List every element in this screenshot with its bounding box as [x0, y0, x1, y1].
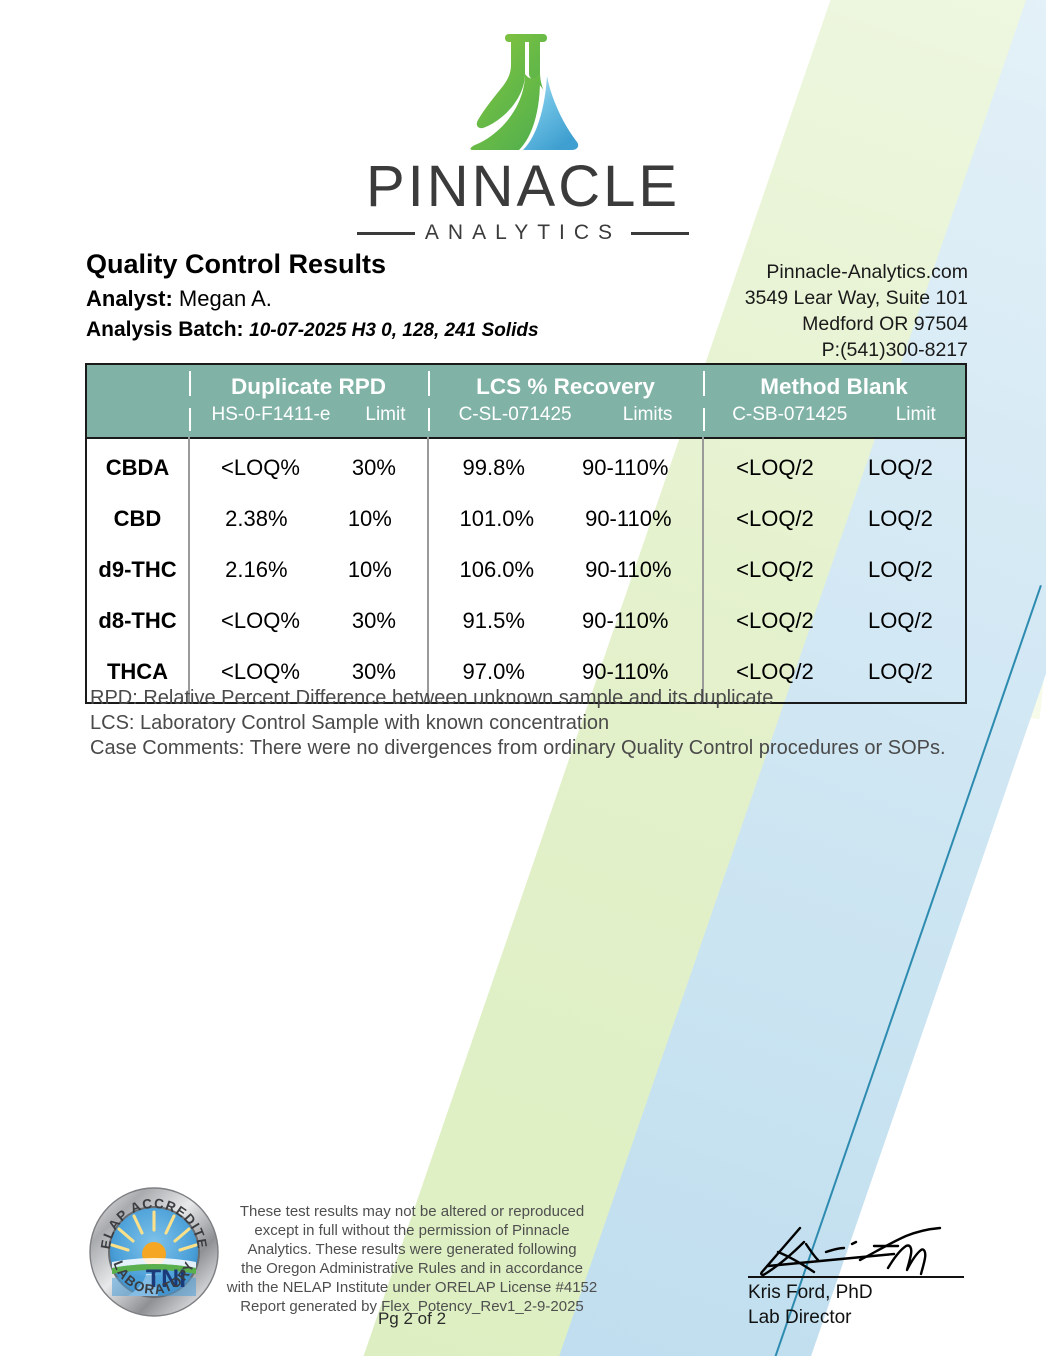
analyst-value: Megan A. — [179, 286, 272, 311]
cell-rpd-value: <LOQ% — [221, 659, 300, 685]
cell-lcs-value: 106.0% — [459, 557, 534, 583]
analysis-batch-value: 10-07-2025 H3 0, 128, 241 Solids — [249, 320, 538, 341]
lab-phone: P:(541)300-8217 — [745, 338, 968, 364]
cell-lcs-limit: 90-110% — [582, 659, 668, 685]
table-notes: RPD: Relative Percent Difference between… — [90, 686, 950, 762]
cell-mb-limit: LOQ/2 — [868, 608, 933, 634]
cell-lcs-value: 97.0% — [463, 659, 525, 685]
report-page: PINNACLE ANALYTICS Quality Control Resul… — [0, 0, 1046, 1356]
disclaimer-line-4: the Oregon Administrative Rules and in a… — [216, 1260, 608, 1279]
cell-mb-value: <LOQ/2 — [736, 608, 814, 634]
subheader-duplicate-rpd: HS-0-F1411-e Limit — [189, 402, 428, 438]
cell-analyte: CBD — [87, 493, 189, 544]
cell-rpd-limit: 30% — [352, 659, 396, 685]
signature-icon — [748, 1222, 970, 1280]
subheader-mb-limit: Limit — [896, 404, 936, 426]
table-row: CBDA <LOQ% 30% 99.8% 90-110% — [87, 438, 965, 493]
table-subheader-row: HS-0-F1411-e Limit C-SL-071425 Limits C-… — [87, 402, 965, 438]
flask-icon — [459, 24, 587, 156]
company-logo: PINNACLE ANALYTICS — [0, 24, 1046, 245]
cell-analyte: d9-THC — [87, 544, 189, 595]
cell-mb-limit: LOQ/2 — [868, 659, 933, 685]
page-title: Quality Control Results — [86, 249, 539, 280]
report-header-left: Quality Control Results Analyst: Megan A… — [86, 249, 539, 342]
group-header-lcs-recovery: LCS % Recovery — [428, 365, 703, 402]
logo-rule-right — [631, 232, 689, 235]
cell-rpd-value: <LOQ% — [221, 608, 300, 634]
cell-lcs-value: 91.5% — [463, 608, 525, 634]
cell-analyte: d8-THC — [87, 595, 189, 646]
group-header-method-blank: Method Blank — [703, 365, 965, 402]
cell-lcs-limit: 90-110% — [585, 557, 671, 583]
cell-analyte: CBDA — [87, 438, 189, 493]
cell-lcs-value: 101.0% — [459, 506, 534, 532]
cell-method-blank: <LOQ/2 LOQ/2 — [703, 544, 965, 595]
disclaimer-line-3: Analytics. These results were generated … — [216, 1241, 608, 1260]
quality-control-table: Duplicate RPD LCS % Recovery Method Blan… — [85, 363, 967, 704]
logo-subtitle-row: ANALYTICS — [0, 221, 1046, 245]
group-header-analyte — [87, 365, 189, 402]
table-row: d9-THC 2.16% 10% 106.0% 90-110% — [87, 544, 965, 595]
cell-mb-value: <LOQ/2 — [736, 455, 814, 481]
cell-mb-value: <LOQ/2 — [736, 659, 814, 685]
cell-rpd-value: 2.16% — [225, 557, 287, 583]
disclaimer-line-1: These test results may not be altered or… — [216, 1203, 608, 1222]
lab-website: Pinnacle-Analytics.com — [745, 260, 968, 286]
analyst-row: Analyst: Megan A. — [86, 286, 539, 311]
subheader-analyte — [87, 402, 189, 438]
cell-lcs-limit: 90-110% — [585, 506, 671, 532]
cell-rpd-limit: 10% — [348, 557, 392, 583]
cell-duplicate-rpd: <LOQ% 30% — [189, 595, 428, 646]
cell-rpd-limit: 30% — [352, 455, 396, 481]
analysis-batch-label: Analysis Batch: — [86, 318, 244, 341]
table-row: d8-THC <LOQ% 30% 91.5% 90-110% — [87, 595, 965, 646]
subheader-mb-sample-id: C-SB-071425 — [732, 404, 847, 426]
cell-lcs-recovery: 99.8% 90-110% — [428, 438, 703, 493]
cell-mb-value: <LOQ/2 — [736, 506, 814, 532]
cell-method-blank: <LOQ/2 LOQ/2 — [703, 595, 965, 646]
table-head: Duplicate RPD LCS % Recovery Method Blan… — [87, 365, 965, 438]
table-group-header-row: Duplicate RPD LCS % Recovery Method Blan… — [87, 365, 965, 402]
nelap-seal-icon: TNI NELAP ACCREDITED LABORATORY — [88, 1186, 220, 1318]
lab-street: 3549 Lear Way, Suite 101 — [745, 286, 968, 312]
subheader-method-blank: C-SB-071425 Limit — [703, 402, 965, 438]
cell-lcs-value: 99.8% — [463, 455, 525, 481]
subheader-lcs-sample-id: C-SL-071425 — [459, 404, 572, 426]
cell-rpd-limit: 30% — [352, 608, 396, 634]
signer-title: Lab Director — [748, 1307, 973, 1328]
cell-mb-limit: LOQ/2 — [868, 506, 933, 532]
cell-mb-limit: LOQ/2 — [868, 557, 933, 583]
cell-mb-limit: LOQ/2 — [868, 455, 933, 481]
logo-wordmark: PINNACLE — [0, 158, 1046, 216]
analyst-label: Analyst: — [86, 286, 173, 311]
disclaimer-line-5: with the NELAP Institute under ORELAP Li… — [216, 1279, 608, 1298]
lab-contact-info: Pinnacle-Analytics.com 3549 Lear Way, Su… — [745, 260, 968, 364]
analysis-batch-row: Analysis Batch: 10-07-2025 H3 0, 128, 24… — [86, 318, 539, 342]
subheader-rpd-limit: Limit — [365, 404, 405, 426]
page-number: Pg 2 of 2 — [216, 1309, 608, 1329]
signer-name: Kris Ford, PhD — [748, 1282, 973, 1303]
signature-block: Kris Ford, PhD Lab Director — [748, 1222, 973, 1329]
cell-lcs-recovery: 106.0% 90-110% — [428, 544, 703, 595]
note-case-comments: Case Comments: There were no divergences… — [90, 736, 950, 761]
group-header-duplicate-rpd: Duplicate RPD — [189, 365, 428, 402]
subheader-lcs: C-SL-071425 Limits — [428, 402, 703, 438]
cell-method-blank: <LOQ/2 LOQ/2 — [703, 493, 965, 544]
note-lcs: LCS: Laboratory Control Sample with know… — [90, 711, 950, 736]
cell-duplicate-rpd: 2.16% 10% — [189, 544, 428, 595]
footer-disclaimer: These test results may not be altered or… — [216, 1203, 608, 1317]
table-body: CBDA <LOQ% 30% 99.8% 90-110% — [87, 438, 965, 702]
report-header: Quality Control Results Analyst: Megan A… — [0, 249, 1046, 359]
table-row: CBD 2.38% 10% 101.0% 90-110% — [87, 493, 965, 544]
cell-rpd-value: 2.38% — [225, 506, 287, 532]
cell-lcs-limit: 90-110% — [582, 455, 668, 481]
cell-mb-value: <LOQ/2 — [736, 557, 814, 583]
lab-city: Medford OR 97504 — [745, 312, 968, 338]
cell-method-blank: <LOQ/2 LOQ/2 — [703, 438, 965, 493]
signature-line — [748, 1276, 964, 1278]
cell-lcs-limit: 90-110% — [582, 608, 668, 634]
cell-lcs-recovery: 91.5% 90-110% — [428, 595, 703, 646]
cell-rpd-value: <LOQ% — [221, 455, 300, 481]
subheader-lcs-limit: Limits — [623, 404, 673, 426]
subheader-rpd-sample-id: HS-0-F1411-e — [211, 404, 330, 426]
cell-lcs-recovery: 101.0% 90-110% — [428, 493, 703, 544]
cell-duplicate-rpd: <LOQ% 30% — [189, 438, 428, 493]
disclaimer-line-2: except in full without the permission of… — [216, 1222, 608, 1241]
logo-subtitle: ANALYTICS — [425, 221, 621, 245]
cell-duplicate-rpd: 2.38% 10% — [189, 493, 428, 544]
nelap-accreditation-seal: TNI NELAP ACCREDITED LABORATORY — [88, 1186, 220, 1318]
logo-rule-left — [357, 232, 415, 235]
note-rpd: RPD: Relative Percent Difference between… — [90, 686, 950, 711]
cell-rpd-limit: 10% — [348, 506, 392, 532]
